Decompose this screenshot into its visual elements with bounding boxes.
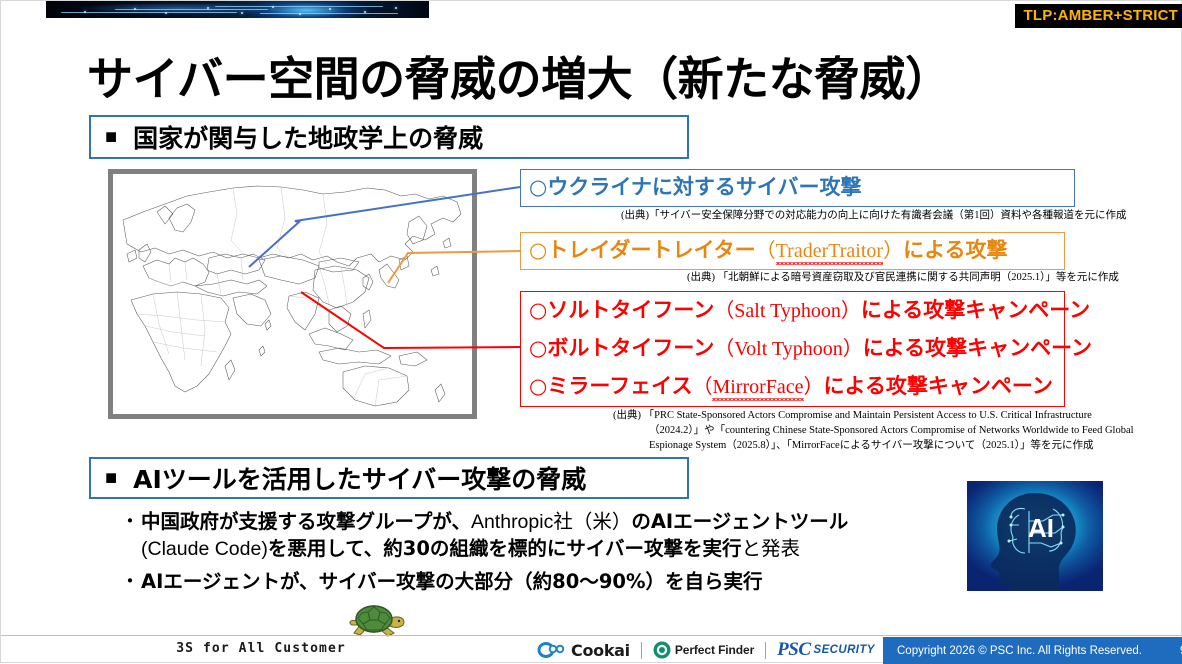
callout-trader-latin: TraderTraitor — [776, 240, 883, 262]
cookai-logo: Cookai — [537, 641, 630, 660]
mirrorface-latin: MirrorFace — [712, 376, 803, 398]
paren-close: ） — [843, 338, 863, 360]
callout-salt-typhoon: ○ソルトタイフーン（Salt Typhoon）による攻撃キャンペーン — [521, 298, 1064, 324]
bullet-marker-icon: ・ — [119, 569, 141, 596]
callout-ukraine-label: ウクライナに対するサイバー攻撃 — [547, 175, 861, 199]
perfect-finder-mark-icon — [653, 641, 671, 659]
mirrorface-post: による攻撃キャンペーン — [824, 374, 1053, 398]
section-header-ai-threats: ■ AIツールを活用したサイバー攻撃の脅威 — [89, 457, 689, 499]
ai-brain-head-image: AI — [967, 481, 1103, 591]
paren-open: （ — [714, 338, 734, 360]
callout-ukraine-text: ○ウクライナに対するサイバー攻撃 — [521, 175, 1074, 201]
volt-typhoon-pre: ボルトタイフーン — [547, 336, 714, 360]
citation-line-3: Espionage System（2025.8）」、「MirrorFaceによる… — [613, 439, 1182, 454]
footer-partner-logos: Cookai Perfect Finder PSC SECURITY — [537, 638, 875, 662]
psc-logo-subtext: SECURITY — [814, 644, 875, 656]
salt-typhoon-latin: Salt Typhoon — [734, 300, 841, 322]
section-marker-icon: ■ — [105, 127, 117, 147]
salt-typhoon-post: による攻撃キャンペーン — [861, 298, 1090, 322]
list-item: ・ AIエージェントが、サイバー攻撃の大部分（約80〜90%）を自ら実行 — [119, 569, 979, 596]
callout-trader-post: による攻撃 — [903, 238, 1007, 262]
copyright-text: Copyright 2026 © PSC Inc. All Rights Res… — [897, 645, 1142, 657]
world-map — [108, 169, 477, 419]
callout-mirrorface: ○ミラーフェイス（MirrorFace）による攻撃キャンペーン — [521, 374, 1064, 400]
callout-bullet-icon: ○ — [529, 298, 547, 322]
cookai-logo-text: Cookai — [571, 641, 630, 660]
paren-close: ） — [804, 376, 824, 398]
ai-threat-bullet-list: ・ 中国政府が支援する攻撃グループが、Anthropic社（米）のAIエージェン… — [119, 509, 979, 602]
psc-security-logo: PSC SECURITY — [777, 639, 875, 661]
section-header-label: AIツールを活用したサイバー攻撃の脅威 — [133, 460, 586, 496]
svg-text:AI: AI — [1028, 513, 1054, 543]
logo-divider — [765, 642, 766, 659]
perfect-finder-logo-text: Perfect Finder — [675, 643, 754, 657]
header-banner-image — [46, 1, 429, 18]
callout-ukraine: ○ウクライナに対するサイバー攻撃 — [520, 169, 1075, 207]
callout-bullet-icon: ○ — [529, 336, 547, 360]
citation-ukraine: (出典)「サイバー安全保障分野での対応能力の向上に向けた有識者会議（第1回）資料… — [621, 209, 1181, 224]
callout-trader-pre: トレイダートレイター — [547, 238, 755, 262]
section-header-geopolitical: ■ 国家が関与した地政学上の脅威 — [89, 115, 689, 159]
callout-china-campaigns: ○ソルトタイフーン（Salt Typhoon）による攻撃キャンペーン ○ボルトタ… — [520, 291, 1065, 407]
citation-line-2: （2024.2）」や「countering Chinese State-Spon… — [613, 424, 1182, 439]
paren-open: （ — [692, 376, 712, 398]
perfect-finder-logo: Perfect Finder — [653, 641, 754, 659]
section-header-label: 国家が関与した地政学上の脅威 — [133, 119, 483, 155]
paren-close: ） — [841, 300, 861, 322]
section-marker-icon: ■ — [105, 468, 117, 488]
footer-tagline: 3S for All Customer — [1, 641, 521, 656]
bullet1-seg-g: と発表 — [742, 537, 801, 560]
paren-open: （ — [756, 240, 776, 262]
bullet1-seg-d: (Claude Code) — [141, 538, 268, 560]
footer-divider — [1, 635, 1182, 636]
bullet1-seg-f: 約30の組織を標的にサイバー攻撃を実行 — [383, 537, 741, 560]
callout-bullet-icon: ○ — [529, 238, 547, 262]
paren-open: （ — [714, 300, 734, 322]
cookai-mark-icon — [537, 641, 567, 659]
turtle-mascot-image — [346, 599, 406, 639]
bullet-text: 中国政府が支援する攻撃グループが、Anthropic社（米）のAIエージェントツ… — [141, 509, 848, 563]
psc-logo-text: PSC — [777, 639, 810, 661]
bullet1-seg-e: を悪用して、 — [268, 537, 383, 560]
citation-tradertraitor: (出典) 「北朝鮮による暗号資産窃取及び官民連携に関する共同声明（2025.1）… — [687, 271, 1182, 286]
bullet1-seg-b: Anthropic社（米） — [471, 511, 631, 533]
callout-volt-typhoon: ○ボルトタイフーン（Volt Typhoon）による攻撃キャンペーン — [521, 336, 1064, 362]
logo-divider — [641, 642, 642, 659]
page-title: サイバー空間の脅威の増大（新たな脅威） — [87, 43, 951, 109]
volt-typhoon-post: による攻撃キャンペーン — [863, 336, 1092, 360]
callout-tradertraitor-text: ○トレイダートレイター（TraderTraitor）による攻撃 — [521, 238, 1064, 264]
callout-bullet-icon: ○ — [529, 175, 547, 199]
bullet-marker-icon: ・ — [119, 509, 141, 536]
slide-canvas: TLP:AMBER+STRICT サイバー空間の脅威の増大（新たな脅威） ■ 国… — [0, 0, 1182, 663]
list-item: ・ 中国政府が支援する攻撃グループが、Anthropic社（米）のAIエージェン… — [119, 509, 979, 563]
citation-line-1: (出典) 「PRC State-Sponsored Actors Comprom… — [613, 410, 1092, 421]
callout-tradertraitor: ○トレイダートレイター（TraderTraitor）による攻撃 — [520, 232, 1065, 270]
footer-copyright-bar: Copyright 2026 © PSC Inc. All Rights Res… — [883, 637, 1182, 664]
paren-close: ） — [883, 240, 903, 262]
callout-bullet-icon: ○ — [529, 374, 547, 398]
bullet-text: AIエージェントが、サイバー攻撃の大部分（約80〜90%）を自ら実行 — [141, 569, 763, 596]
salt-typhoon-pre: ソルトタイフーン — [547, 298, 714, 322]
bullet1-seg-a: 中国政府が支援する攻撃グループが、 — [141, 510, 471, 533]
mirrorface-pre: ミラーフェイス — [547, 374, 692, 398]
volt-typhoon-latin: Volt Typhoon — [734, 338, 842, 360]
citation-china-campaigns: (出典) 「PRC State-Sponsored Actors Comprom… — [613, 409, 1182, 454]
tlp-classification-badge: TLP:AMBER+STRICT — [1015, 4, 1182, 28]
bullet1-seg-c: のAIエージェントツール — [631, 510, 848, 533]
